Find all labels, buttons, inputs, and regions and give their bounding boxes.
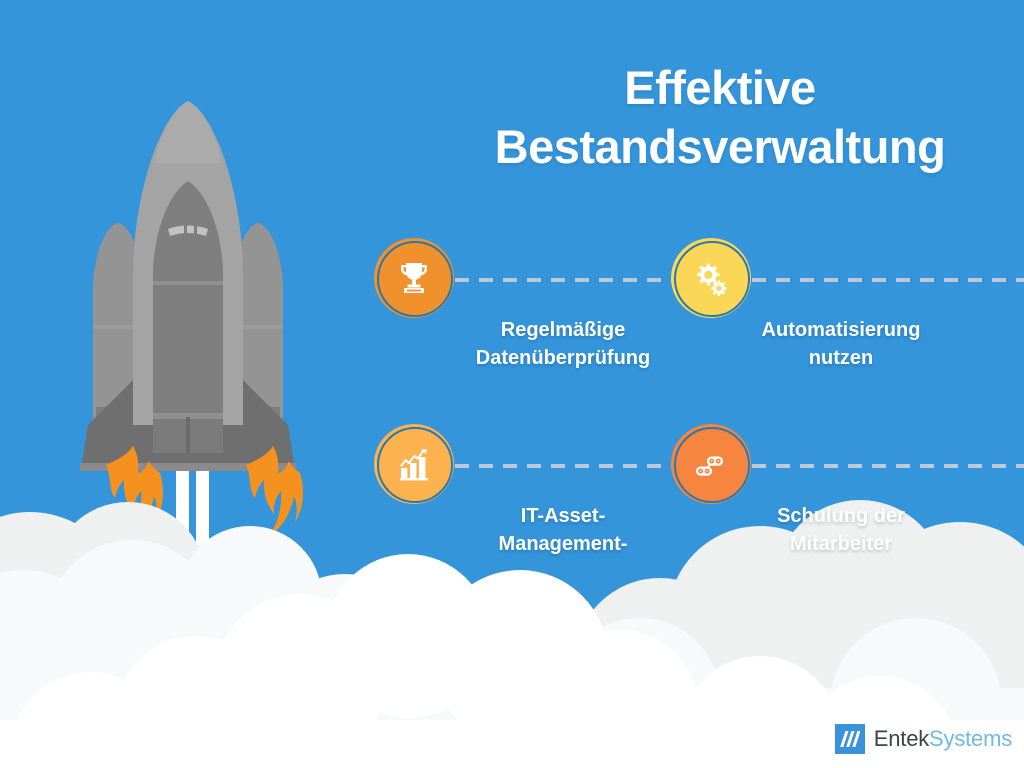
step-label-4b: Mitarbeiter [691, 530, 991, 558]
step-caption-1: Regelmäßige Datenüberprüfung [413, 316, 713, 373]
step-node-2[interactable] [671, 238, 753, 320]
step-label-3a: IT-Asset- [413, 502, 713, 530]
steps-row-1: Regelmäßige Datenüberprüfung [0, 238, 1024, 358]
step-label-1b: Datenüberprüfung [413, 344, 713, 372]
logo-wordmark: EntekSystems [874, 726, 1012, 752]
connector-dash-1 [455, 278, 685, 282]
step-label-4a: Schulung der [691, 502, 991, 530]
step-label-2a: Automatisierung [691, 316, 991, 344]
step-label-2b: nutzen [691, 344, 991, 372]
three-slashes-icon [840, 730, 860, 748]
step-ring-3 [377, 427, 453, 503]
connector-dash-4 [752, 464, 1024, 468]
step-label-1a: Regelmäßige [413, 316, 713, 344]
steps-container: Regelmäßige Datenüberprüfung [0, 0, 1024, 768]
step-label-3b: Management- [413, 530, 713, 558]
step-ring-1 [377, 241, 453, 317]
steps-row-2: IT-Asset- Management- [0, 424, 1024, 544]
step-caption-3: IT-Asset- Management- [413, 502, 713, 559]
step-caption-4: Schulung der Mitarbeiter [691, 502, 991, 559]
logo-word-systems: Systems [929, 726, 1012, 751]
step-node-4[interactable] [671, 424, 753, 506]
step-node-1[interactable] [374, 238, 456, 320]
slide-canvas: Effektive Bestandsverwaltung [0, 0, 1024, 768]
step-node-3[interactable] [374, 424, 456, 506]
logo-word-entek: Entek [874, 726, 929, 751]
connector-dash-3 [455, 464, 685, 468]
brand-logo[interactable]: EntekSystems [835, 724, 1012, 754]
connector-dash-2 [752, 278, 1024, 282]
step-ring-4 [674, 427, 750, 503]
step-ring-2 [674, 241, 750, 317]
logo-mark-icon [835, 724, 865, 754]
step-caption-2: Automatisierung nutzen [691, 316, 991, 373]
